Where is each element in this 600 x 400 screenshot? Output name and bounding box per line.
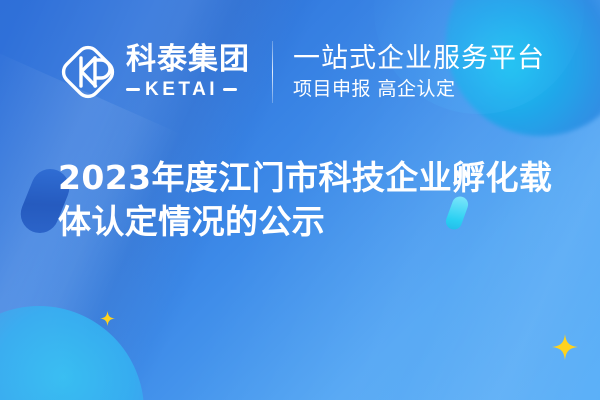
brand-name-en: KETAI xyxy=(145,80,218,99)
brand-wordmark: 科泰集团 KETAI xyxy=(126,45,250,99)
cyan-glow-blob-bottom-left xyxy=(0,306,144,400)
brand-logo[interactable]: 科泰集团 KETAI xyxy=(56,40,250,104)
sparkle-small-left-icon xyxy=(100,311,115,326)
sparkle-large-right-icon xyxy=(552,334,578,360)
banner-headline: 2023年度江门市科技企业孵化载体认定情况的公示 xyxy=(58,156,563,244)
slogan-block: 一站式企业服务平台 项目申报 高企认定 xyxy=(293,44,545,100)
promo-banner: 科泰集团 KETAI 一站式企业服务平台 项目申报 高企认定 2023年度江门市… xyxy=(0,0,600,400)
slogan-primary: 一站式企业服务平台 xyxy=(293,44,545,73)
header-vertical-divider xyxy=(272,41,273,103)
slogan-secondary: 项目申报 高企认定 xyxy=(293,79,545,100)
ketai-diamond-kp-monogram-icon xyxy=(56,40,120,104)
wordmark-dash-right xyxy=(223,88,237,91)
brand-name-cn: 科泰集团 xyxy=(126,45,250,75)
brand-name-en-row: KETAI xyxy=(126,80,250,99)
wordmark-dash-left xyxy=(126,88,140,91)
banner-header: 科泰集团 KETAI 一站式企业服务平台 项目申报 高企认定 xyxy=(56,40,545,104)
